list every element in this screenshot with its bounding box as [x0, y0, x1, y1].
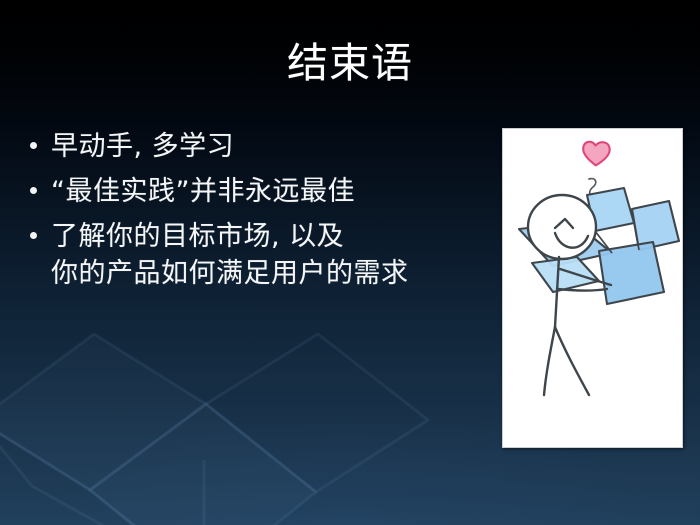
bullet-list: 早动手, 多学习 “最佳实践”并非永远最佳 了解你的目标市场, 以及 你的产品如…: [24, 128, 479, 300]
bullet-item-1: 早动手, 多学习: [24, 128, 479, 165]
bullet-item-2: “最佳实践”并非永远最佳: [24, 173, 479, 210]
bullet-dot-icon: [30, 187, 37, 194]
illustration-panel: [502, 128, 683, 448]
stick-figure-head-icon: [528, 195, 596, 259]
stick-figure-hugging-dropbox-illustration: [503, 129, 682, 447]
bullet-item-1-text: 早动手, 多学习: [51, 128, 234, 165]
bullet-item-2-line-1: “最佳实践”并非永远最佳: [51, 173, 355, 210]
bullet-item-3-text: 了解你的目标市场, 以及 你的产品如何满足用户的需求: [51, 218, 409, 292]
slide-title: 结束语: [0, 38, 700, 88]
bullet-item-1-line-1: 早动手, 多学习: [51, 128, 234, 165]
bullet-item-3-line-1: 了解你的目标市场, 以及: [51, 218, 409, 255]
bullet-item-2-text: “最佳实践”并非永远最佳: [51, 173, 355, 210]
slide-canvas: 结束语 早动手, 多学习 “最佳实践”并非永远最佳 了解你的目标市场, 以及 你…: [0, 0, 700, 525]
open-box-watermark-icon: [0, 300, 436, 525]
bullet-item-3: 了解你的目标市场, 以及 你的产品如何满足用户的需求: [24, 218, 479, 292]
bullet-dot-icon: [30, 142, 37, 149]
bullet-item-3-line-2: 你的产品如何满足用户的需求: [51, 255, 409, 292]
bullet-dot-icon: [30, 232, 37, 239]
